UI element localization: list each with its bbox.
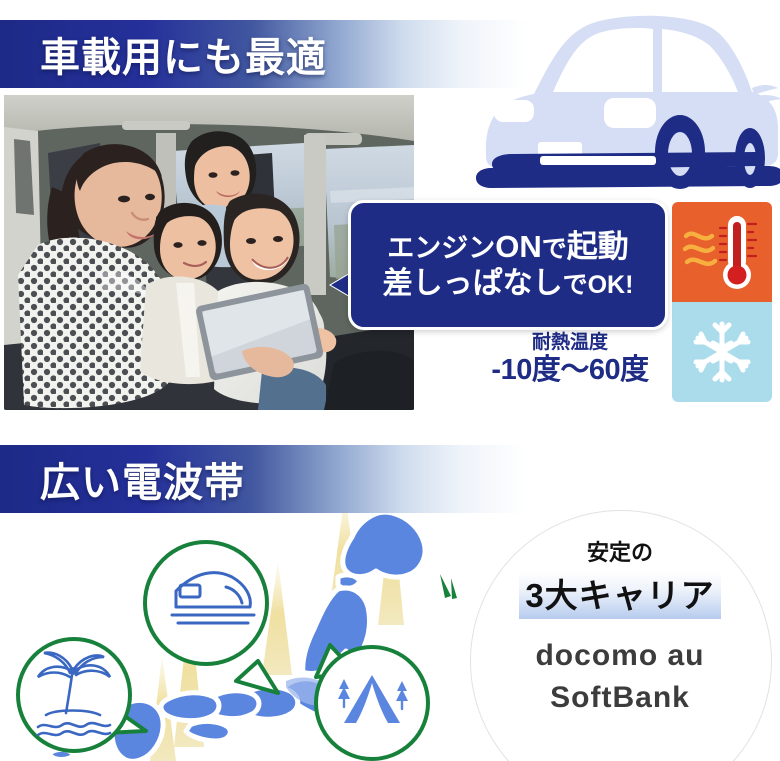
snowflake-icon (672, 302, 772, 402)
section-car-title: 車載用にも最適 (40, 25, 327, 83)
product-feature-page: 車載用にも最適 (0, 0, 780, 761)
japan-map-illustration (0, 485, 470, 761)
section-car-use: 車載用にも最適 (0, 0, 780, 425)
engine-on-callout: エンジンONで起動 差しっぱなしでOK! (348, 200, 668, 330)
callout-line-1: エンジンONで起動 (387, 229, 629, 266)
section-coverage-title: 広い電波帯 (40, 450, 245, 508)
carrier-stable-label: 安定の (470, 540, 770, 566)
carrier-headline: 3大キャリア (519, 568, 720, 619)
callout-bullet-train (145, 542, 278, 693)
carrier-list-line-2: SoftBank (470, 677, 770, 718)
callout-line1-pre: エンジン (387, 233, 495, 263)
heat-resistance-block: 耐熱温度 -10度〜60度 (470, 333, 670, 387)
heat-resistance-value: -10度〜60度 (470, 354, 670, 387)
green-accent-right-icon (774, 570, 780, 609)
heat-waves-icon (685, 234, 715, 264)
carrier-headline-row: 3大キャリア (470, 568, 770, 619)
callout-line1-post: 起動 (567, 229, 629, 264)
callout-line2-post: OK! (588, 271, 634, 299)
callout-line1-em: ON (495, 229, 542, 264)
section-car-banner: 車載用にも最適 (0, 20, 560, 88)
callout-line2-main: 差しっぱなし (383, 267, 563, 300)
callout-line-2: 差しっぱなしでOK! (383, 266, 634, 301)
carrier-block: 安定の 3大キャリア docomo au S (470, 540, 770, 718)
carrier-list: docomo au SoftBank (470, 635, 770, 718)
section-coverage-banner: 広い電波帯 (0, 445, 560, 513)
cold-panel (672, 302, 772, 402)
callout-line1-mid: で (542, 235, 567, 263)
hot-panel (672, 202, 772, 302)
carrier-list-line-1: docomo au (470, 635, 770, 676)
section-coverage: 広い電波帯 安定の 3大キャリア (0, 425, 780, 761)
thermometer-icon (672, 202, 772, 302)
heat-resistance-label: 耐熱温度 (470, 333, 670, 354)
callout-camping (316, 645, 428, 759)
green-accent-left-icon (436, 570, 466, 609)
temperature-range-icons (672, 202, 772, 402)
callout-line2-mid: で (563, 271, 588, 299)
